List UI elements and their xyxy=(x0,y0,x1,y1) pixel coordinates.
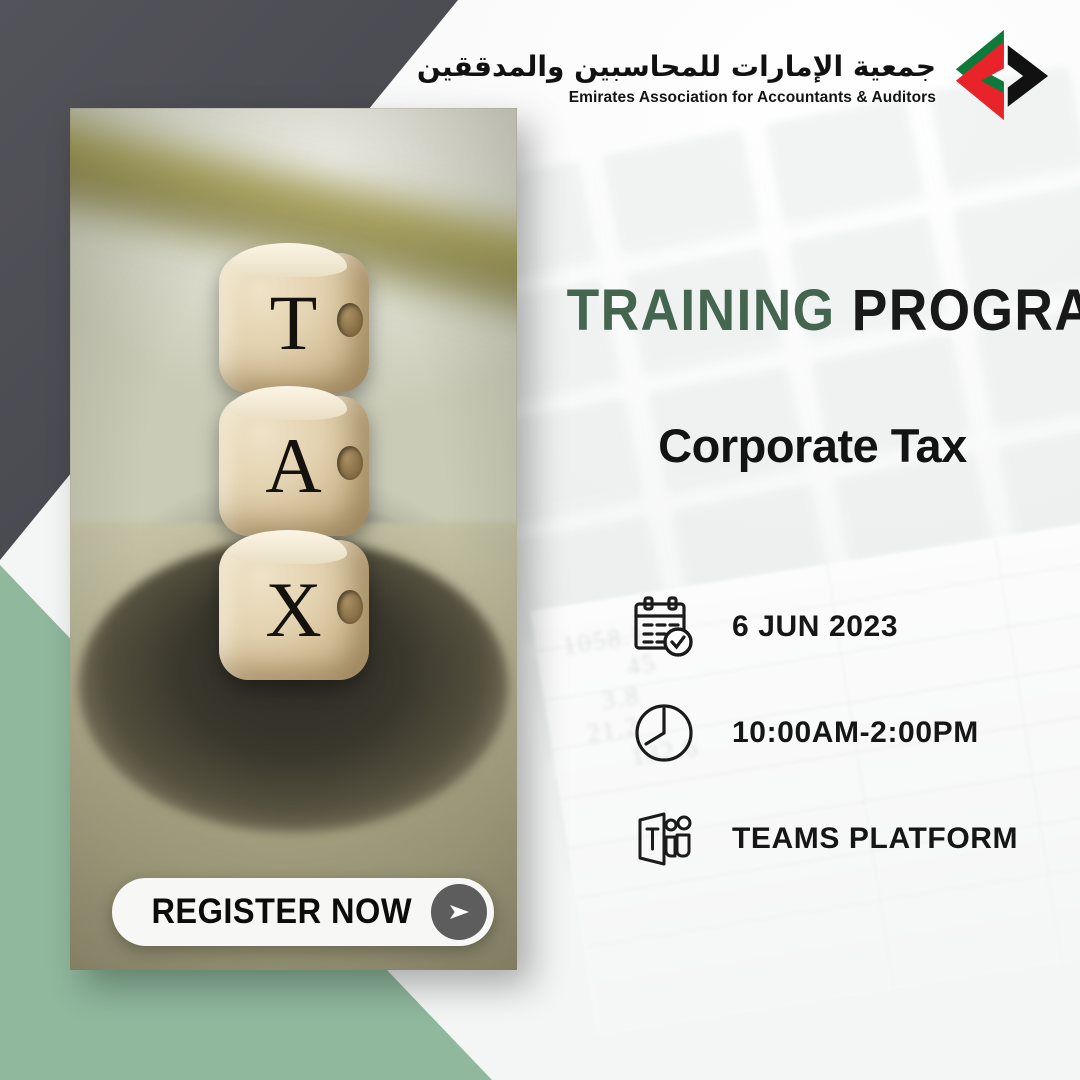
photo-card: T A X xyxy=(70,108,517,970)
photo-vignette xyxy=(70,108,517,970)
poster-canvas: 1058.1 45 3.8 21.2 132.6 T A X REGIS xyxy=(0,0,1080,1080)
brand-name-arabic: جمعية الإمارات للمحاسبين والمدققين xyxy=(417,50,936,84)
brand-name-english: Emirates Association for Accountants & A… xyxy=(417,89,936,107)
detail-label-platform: TEAMS PLATFORM xyxy=(732,822,1018,856)
page-title: TRAINING PROGRAM xyxy=(65,282,1059,340)
clock-icon xyxy=(628,695,704,771)
title-word-training: TRAINING xyxy=(567,278,836,343)
detail-row-platform: TEAMS PLATFORM xyxy=(628,800,1018,878)
register-button-label: REGISTER NOW xyxy=(123,892,420,932)
detail-label-date: 6 JUN 2023 xyxy=(732,610,898,644)
brand-logo: جمعية الإمارات للمحاسبين والمدققين Emira… xyxy=(417,28,1050,129)
brand-logo-text: جمعية الإمارات للمحاسبين والمدققين Emira… xyxy=(417,50,936,108)
teams-icon xyxy=(628,801,704,877)
title-word-program: PROGRAM xyxy=(852,278,1080,343)
detail-row-time: 10:00AM-2:00PM xyxy=(628,694,1018,772)
chevron-mark-logo-icon xyxy=(954,28,1050,129)
arrow-right-icon xyxy=(431,884,487,940)
register-now-button[interactable]: REGISTER NOW xyxy=(112,878,494,946)
detail-row-date: 6 JUN 2023 xyxy=(628,588,1018,666)
detail-label-time: 10:00AM-2:00PM xyxy=(732,716,979,750)
calendar-check-icon xyxy=(628,589,704,665)
course-subtitle: Corporate Tax xyxy=(545,418,1080,473)
event-details: 6 JUN 2023 10:00AM-2:00PM xyxy=(628,588,1018,878)
